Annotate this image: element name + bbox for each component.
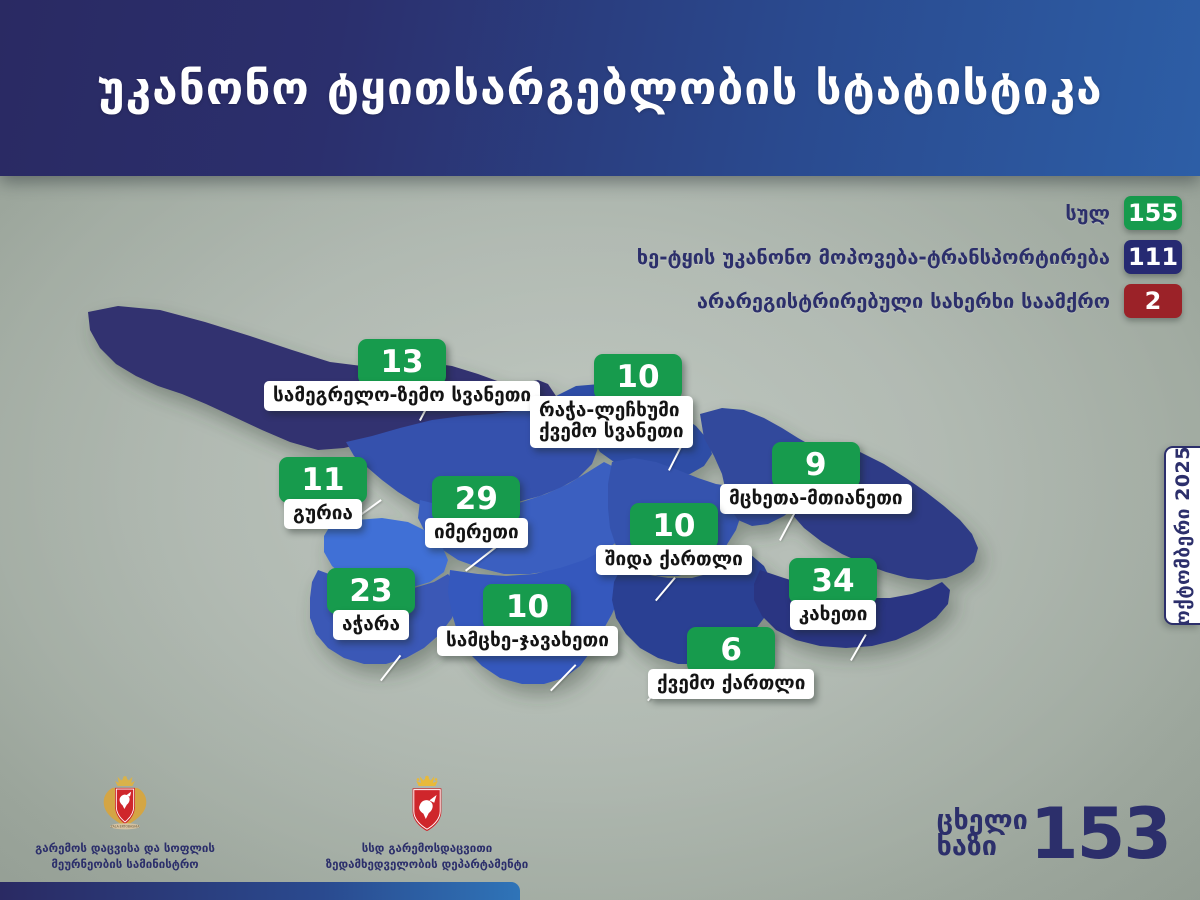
callout-label-racha-line1: რაჭა-ლეჩხუმი: [539, 399, 680, 421]
logo-caption-department: სსდ გარემოსდაცვითი ზედამხედველობის დეპარ…: [326, 841, 528, 872]
callout-value-racha-lechkhumi: 10: [594, 354, 682, 400]
callout-adjara: 23 აჭარა: [327, 568, 415, 640]
callout-racha-lechkhumi-kvemo-svaneti: 10 რაჭა-ლეჩხუმი ქვემო სვანეთი: [530, 354, 693, 448]
logo-caption-department-line1: სსდ გარემოსდაცვითი: [362, 841, 493, 855]
georgia-coat-of-arms-icon: ZALA ERTOBASHIA: [94, 773, 156, 835]
callout-value-adjara: 23: [327, 568, 415, 614]
callout-label-samtskhe-javakheti: სამცხე-ჯავახეთი: [437, 626, 618, 656]
callout-samtskhe-javakheti: 10 სამცხე-ჯავახეთი: [437, 584, 618, 656]
callout-label-guria: გურია: [284, 499, 362, 529]
svg-text:ZALA ERTOBASHIA: ZALA ERTOBASHIA: [111, 825, 141, 829]
logo-block-ministry: ZALA ERTOBASHIA გარემოს დაცვისა და სოფლი…: [22, 773, 228, 872]
callout-value-imereti: 29: [432, 476, 520, 522]
callout-value-samtskhe-javakheti: 10: [483, 584, 571, 630]
legend-label-illegal-logging-transport: ხე-ტყის უკანონო მოპოვება-ტრანსპორტირება: [637, 245, 1110, 269]
footer-logos: ZALA ERTOBASHIA გარემოს დაცვისა და სოფლი…: [22, 773, 530, 872]
logo-caption-ministry-line1: გარემოს დაცვისა და სოფლის: [35, 841, 215, 855]
legend-badge-unregistered-sawmill: 2: [1124, 284, 1182, 318]
legend-badge-illegal-logging-transport: 111: [1124, 240, 1182, 274]
callout-imereti: 29 იმერეთი: [425, 476, 528, 548]
hotline: ცხელი ხაზი 153: [937, 805, 1170, 865]
legend-row-illegal-logging-transport: ხე-ტყის უკანონო მოპოვება-ტრანსპორტირება …: [637, 240, 1182, 274]
callout-value-kvemo-kartli: 6: [687, 627, 775, 673]
callout-guria: 11 გურია: [279, 457, 367, 529]
logo-block-department: სსდ გარემოსდაცვითი ზედამხედველობის დეპარ…: [324, 773, 530, 872]
callout-value-shida-kartli: 10: [630, 503, 718, 549]
logo-caption-ministry: გარემოს დაცვისა და სოფლის მეურნეობის სამ…: [35, 841, 215, 872]
callout-label-imereti: იმერეთი: [425, 518, 528, 548]
callout-kakheti: 34 კახეთი: [789, 558, 877, 630]
callout-label-racha-line2: ქვემო სვანეთი: [539, 420, 684, 442]
georgia-shield-crown-icon: [403, 773, 451, 835]
legend-row-unregistered-sawmill: არარეგისტრირებული სახერხი საამქრო 2: [697, 284, 1182, 318]
date-tab-label: ოქტომბერი 2025: [1172, 446, 1194, 626]
logo-caption-ministry-line2: მეურნეობის სამინისტრო: [51, 857, 198, 871]
page-title: უკანონო ტყითსარგებლობის სტატისტიკა: [97, 63, 1102, 114]
callout-value-kakheti: 34: [789, 558, 877, 604]
bottom-accent-bar: [0, 882, 520, 900]
logo-caption-department-line2: ზედამხედველობის დეპარტამენტი: [326, 857, 528, 871]
callout-label-adjara: აჭარა: [333, 610, 409, 640]
date-tab: ოქტომბერი 2025: [1164, 446, 1200, 625]
legend-badge-total: 155: [1124, 196, 1182, 230]
callout-label-kvemo-kartli: ქვემო ქართლი: [648, 669, 814, 699]
callout-value-samegrelo-zemo-svaneti: 13: [358, 339, 446, 385]
callout-shida-kartli: 10 შიდა ქართლი: [596, 503, 752, 575]
legend-row-total: სულ 155: [1065, 196, 1182, 230]
callout-label-shida-kartli: შიდა ქართლი: [596, 545, 752, 575]
hotline-word-2: ხაზი: [937, 834, 997, 860]
hotline-words: ცხელი ხაზი: [937, 808, 1028, 860]
header-banner: უკანონო ტყითსარგებლობის სტატისტიკა: [0, 0, 1200, 176]
callout-kvemo-kartli: 6 ქვემო ქართლი: [648, 627, 814, 699]
callout-value-guria: 11: [279, 457, 367, 503]
infographic-root: უკანონო ტყითსარგებლობის სტატისტიკა სულ 1…: [0, 0, 1200, 900]
callout-value-mtskheta-mtianeti: 9: [772, 442, 860, 488]
legend-label-total: სულ: [1065, 201, 1110, 225]
callout-label-kakheti: კახეთი: [790, 600, 877, 630]
callout-label-racha-lechkhumi: რაჭა-ლეჩხუმი ქვემო სვანეთი: [530, 396, 693, 448]
footer: ZALA ERTOBASHIA გარემოს დაცვისა და სოფლი…: [0, 765, 1200, 900]
hotline-number: 153: [1030, 805, 1170, 865]
callout-samegrelo-zemo-svaneti: 13 სამეგრელო-ზემო სვანეთი: [264, 339, 540, 411]
legend: სულ 155 ხე-ტყის უკანონო მოპოვება-ტრანსპო…: [637, 196, 1182, 318]
callout-label-samegrelo-zemo-svaneti: სამეგრელო-ზემო სვანეთი: [264, 381, 540, 411]
legend-label-unregistered-sawmill: არარეგისტრირებული სახერხი საამქრო: [697, 289, 1110, 313]
